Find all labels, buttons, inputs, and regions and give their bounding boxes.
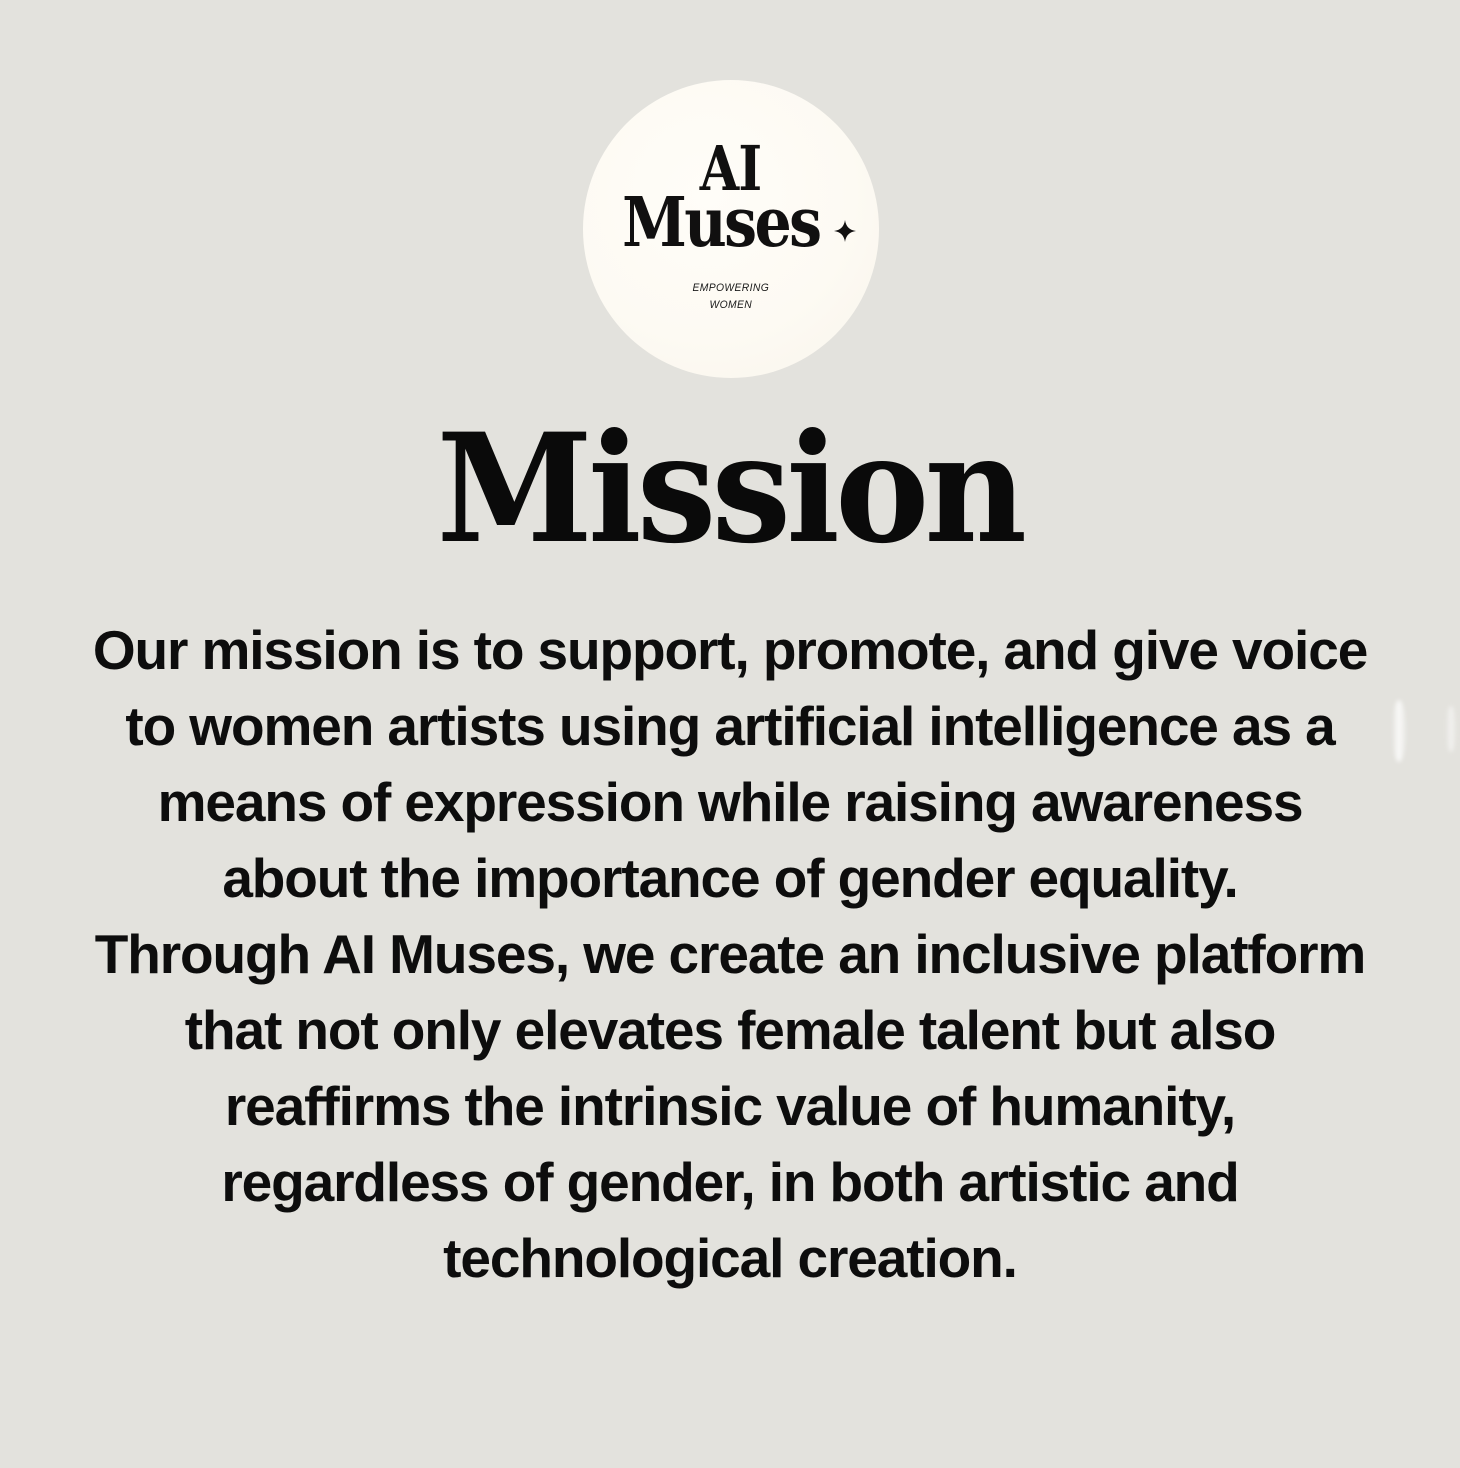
page-title-text: Mission: [437, 414, 1023, 564]
mission-paragraph-1: Our mission is to support, promote, and …: [90, 612, 1370, 916]
brushstroke-artifact-secondary: [1446, 706, 1456, 752]
logo-tagline-line2: WOMEN: [693, 297, 770, 314]
mission-page: AI Muses EMPOWERING WOMEN Mission Our mi…: [0, 0, 1460, 1468]
logo-tagline-line1: EMPOWERING: [693, 280, 770, 297]
logo-text-muses: Muses: [622, 193, 819, 254]
sparkle-star-icon: [834, 220, 856, 242]
brushstroke-artifact: [1392, 700, 1406, 762]
mission-paragraph-2: Through AI Muses, we create an inclusive…: [90, 916, 1370, 1296]
logo-wordmark-row: Muses: [606, 193, 856, 254]
logo-tagline: EMPOWERING WOMEN: [693, 280, 770, 314]
logo-badge: AI Muses EMPOWERING WOMEN: [583, 80, 879, 378]
mission-statement: Our mission is to support, promote, and …: [90, 612, 1370, 1296]
page-title: Mission: [0, 414, 1460, 564]
